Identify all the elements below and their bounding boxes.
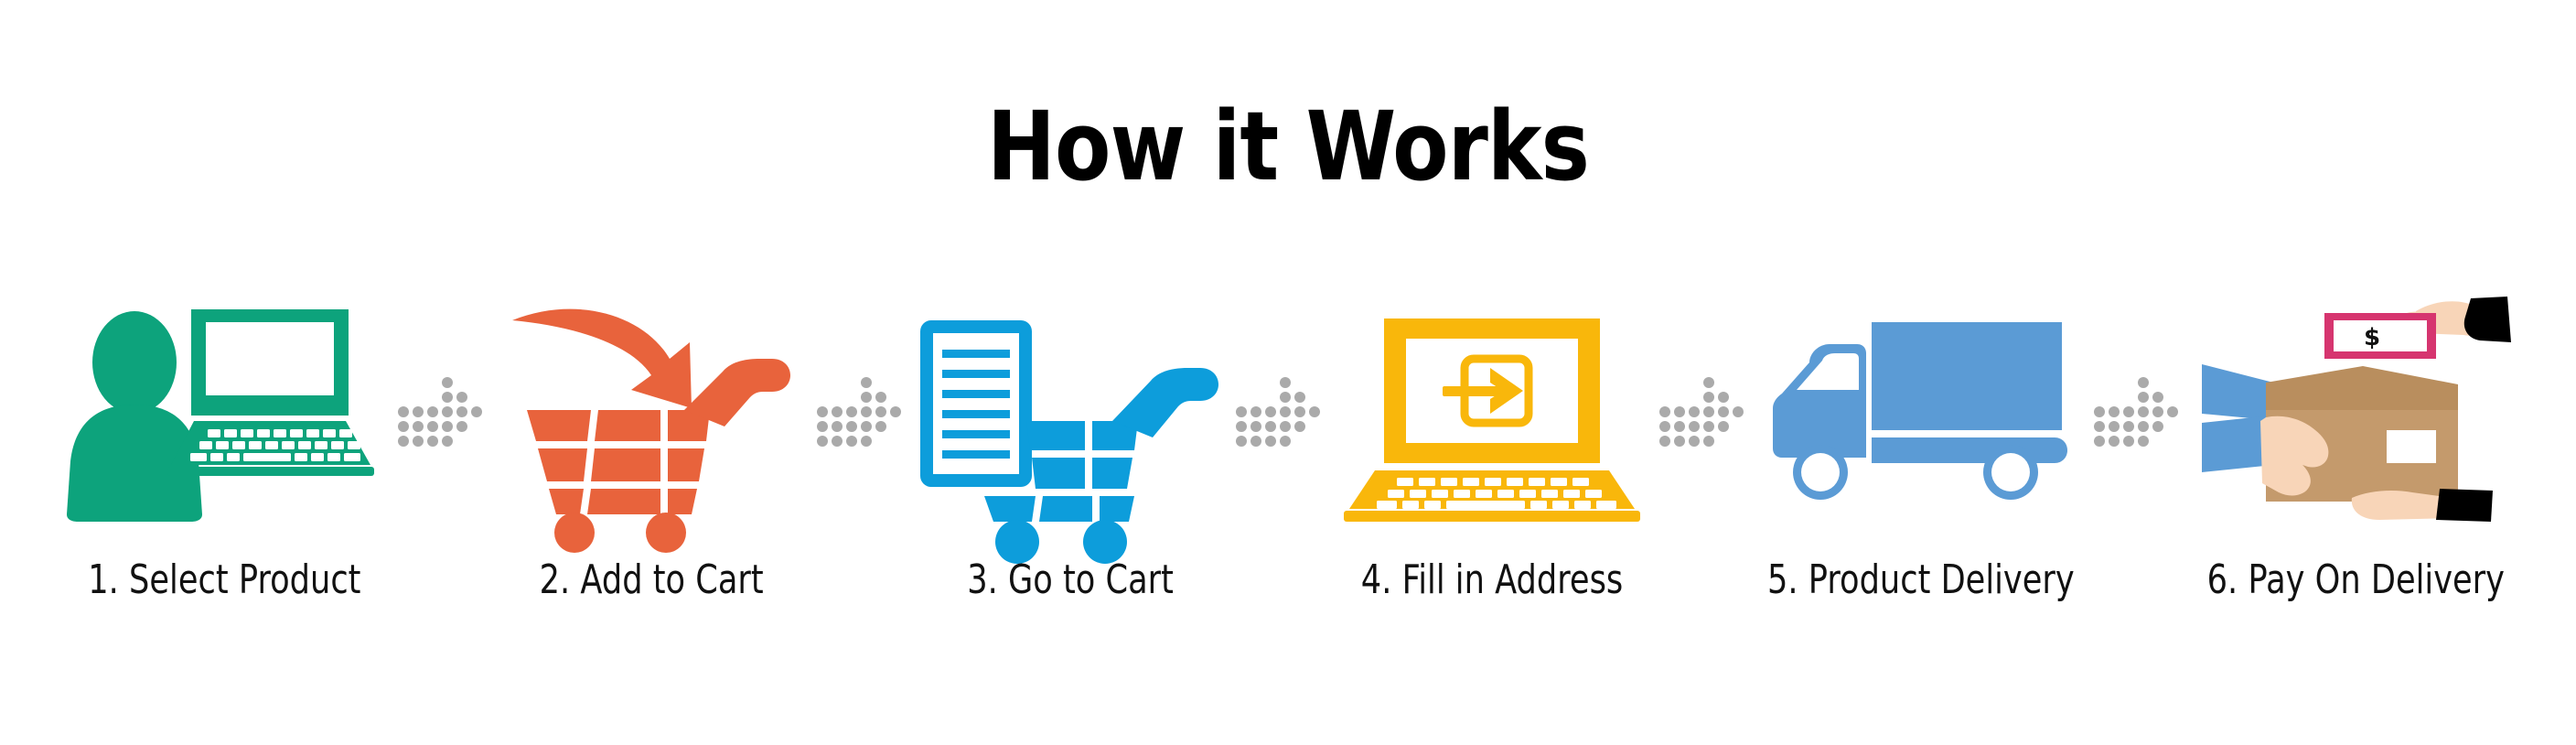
svg-text:$: $ (2364, 324, 2380, 351)
banknote: $ (2324, 313, 2436, 359)
person-at-laptop-icon (69, 302, 380, 522)
dotted-arrow-right-icon-1 (393, 302, 489, 522)
dotted-arrow-right-icon-3 (1232, 302, 1328, 522)
step-3-label: 3. Go to Cart (967, 556, 1174, 603)
delivery-truck-icon (1766, 302, 2077, 522)
step-4-label: 4. Fill in Address (1361, 556, 1623, 603)
step-4-fill-in-address[interactable]: 4. Fill in Address (1328, 302, 1656, 603)
step-1-select-product[interactable]: 1. Select Product (55, 302, 393, 603)
dotted-arrow-right-icon-2 (812, 302, 908, 522)
steps-row: 1. Select Product (55, 302, 2525, 696)
step-6-label: 6. Pay On Delivery (2206, 556, 2504, 603)
step-2-label: 2. Add to Cart (539, 556, 763, 603)
step-5-label: 5. Product Delivery (1767, 556, 2075, 603)
step-1-label: 1. Select Product (88, 556, 360, 603)
cart-with-arrow-icon (496, 302, 807, 522)
dotted-arrow-right-icon-5 (2090, 302, 2186, 522)
step-3-go-to-cart[interactable]: 3. Go to Cart (908, 302, 1231, 603)
step-6-pay-on-delivery[interactable]: $ (2186, 302, 2525, 603)
page-title: How it Works (180, 99, 2396, 194)
laptop-login-icon (1336, 302, 1648, 522)
hands-box-money-icon: $ (2200, 302, 2511, 522)
how-it-works-infographic: How it Works (0, 0, 2576, 745)
document-and-cart-icon (915, 302, 1226, 522)
step-5-product-delivery[interactable]: 5. Product Delivery (1752, 302, 2090, 603)
dotted-arrow-right-icon-4 (1656, 302, 1752, 522)
step-2-add-to-cart[interactable]: 2. Add to Cart (489, 302, 812, 603)
